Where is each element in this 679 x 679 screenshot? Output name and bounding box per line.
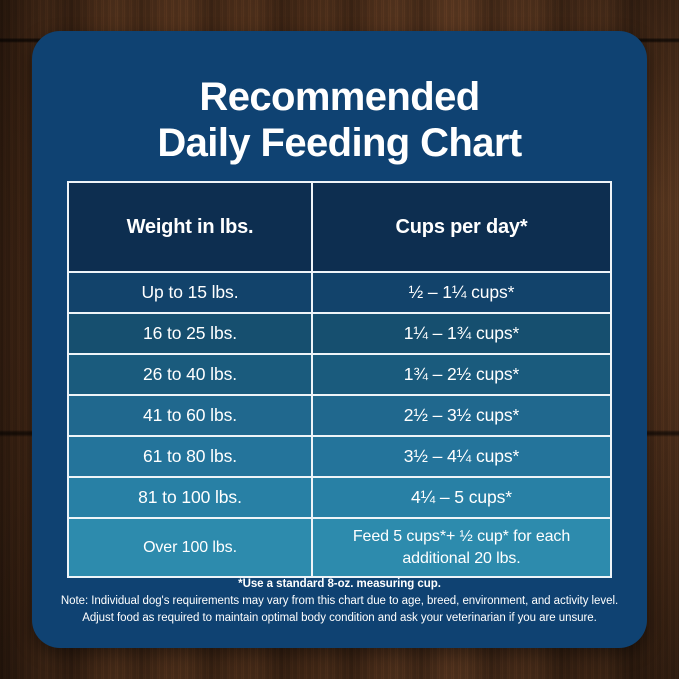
table-header-row: Weight in lbs. Cups per day* [68, 182, 611, 272]
table-row: 26 to 40 lbs. 1¾ – 2½ cups* [68, 354, 611, 395]
table-row: Over 100 lbs. Feed 5 cups*+ ½ cup* for e… [68, 518, 611, 577]
cell-cups: 2½ – 3½ cups* [312, 395, 611, 436]
cell-weight: 61 to 80 lbs. [68, 436, 312, 477]
cell-cups: 1¾ – 2½ cups* [312, 354, 611, 395]
page-title: Recommended Daily Feeding Chart [32, 31, 647, 167]
table-row: 61 to 80 lbs. 3½ – 4¼ cups* [68, 436, 611, 477]
column-header-weight: Weight in lbs. [68, 182, 312, 272]
cell-weight: 41 to 60 lbs. [68, 395, 312, 436]
feeding-chart-card: Recommended Daily Feeding Chart Weight i… [32, 31, 647, 648]
cell-cups: 3½ – 4¼ cups* [312, 436, 611, 477]
footnote-measuring-cup: *Use a standard 8-oz. measuring cup. [54, 576, 625, 593]
table-row: Up to 15 lbs. ½ – 1¼ cups* [68, 272, 611, 313]
footnote-adjust-note: Adjust food as required to maintain opti… [54, 610, 625, 627]
cell-cups: 4¼ – 5 cups* [312, 477, 611, 518]
cell-weight: 16 to 25 lbs. [68, 313, 312, 354]
page-title-line-1: Recommended [60, 74, 619, 120]
table-row: 41 to 60 lbs. 2½ – 3½ cups* [68, 395, 611, 436]
page-title-line-2: Daily Feeding Chart [60, 120, 619, 166]
feeding-table: Weight in lbs. Cups per day* Up to 15 lb… [67, 181, 612, 578]
cell-weight: Up to 15 lbs. [68, 272, 312, 313]
table-row: 81 to 100 lbs. 4¼ – 5 cups* [68, 477, 611, 518]
cell-cups: 1¼ – 1¾ cups* [312, 313, 611, 354]
footnotes: *Use a standard 8-oz. measuring cup. Not… [54, 576, 625, 627]
column-header-cups: Cups per day* [312, 182, 611, 272]
footnote-requirements-note: Note: Individual dog's requirements may … [54, 593, 625, 610]
cell-cups: Feed 5 cups*+ ½ cup* for each additional… [312, 518, 611, 577]
table-row: 16 to 25 lbs. 1¼ – 1¾ cups* [68, 313, 611, 354]
cell-weight: 26 to 40 lbs. [68, 354, 312, 395]
cell-cups: ½ – 1¼ cups* [312, 272, 611, 313]
cell-weight: 81 to 100 lbs. [68, 477, 312, 518]
cell-weight: Over 100 lbs. [68, 518, 312, 577]
